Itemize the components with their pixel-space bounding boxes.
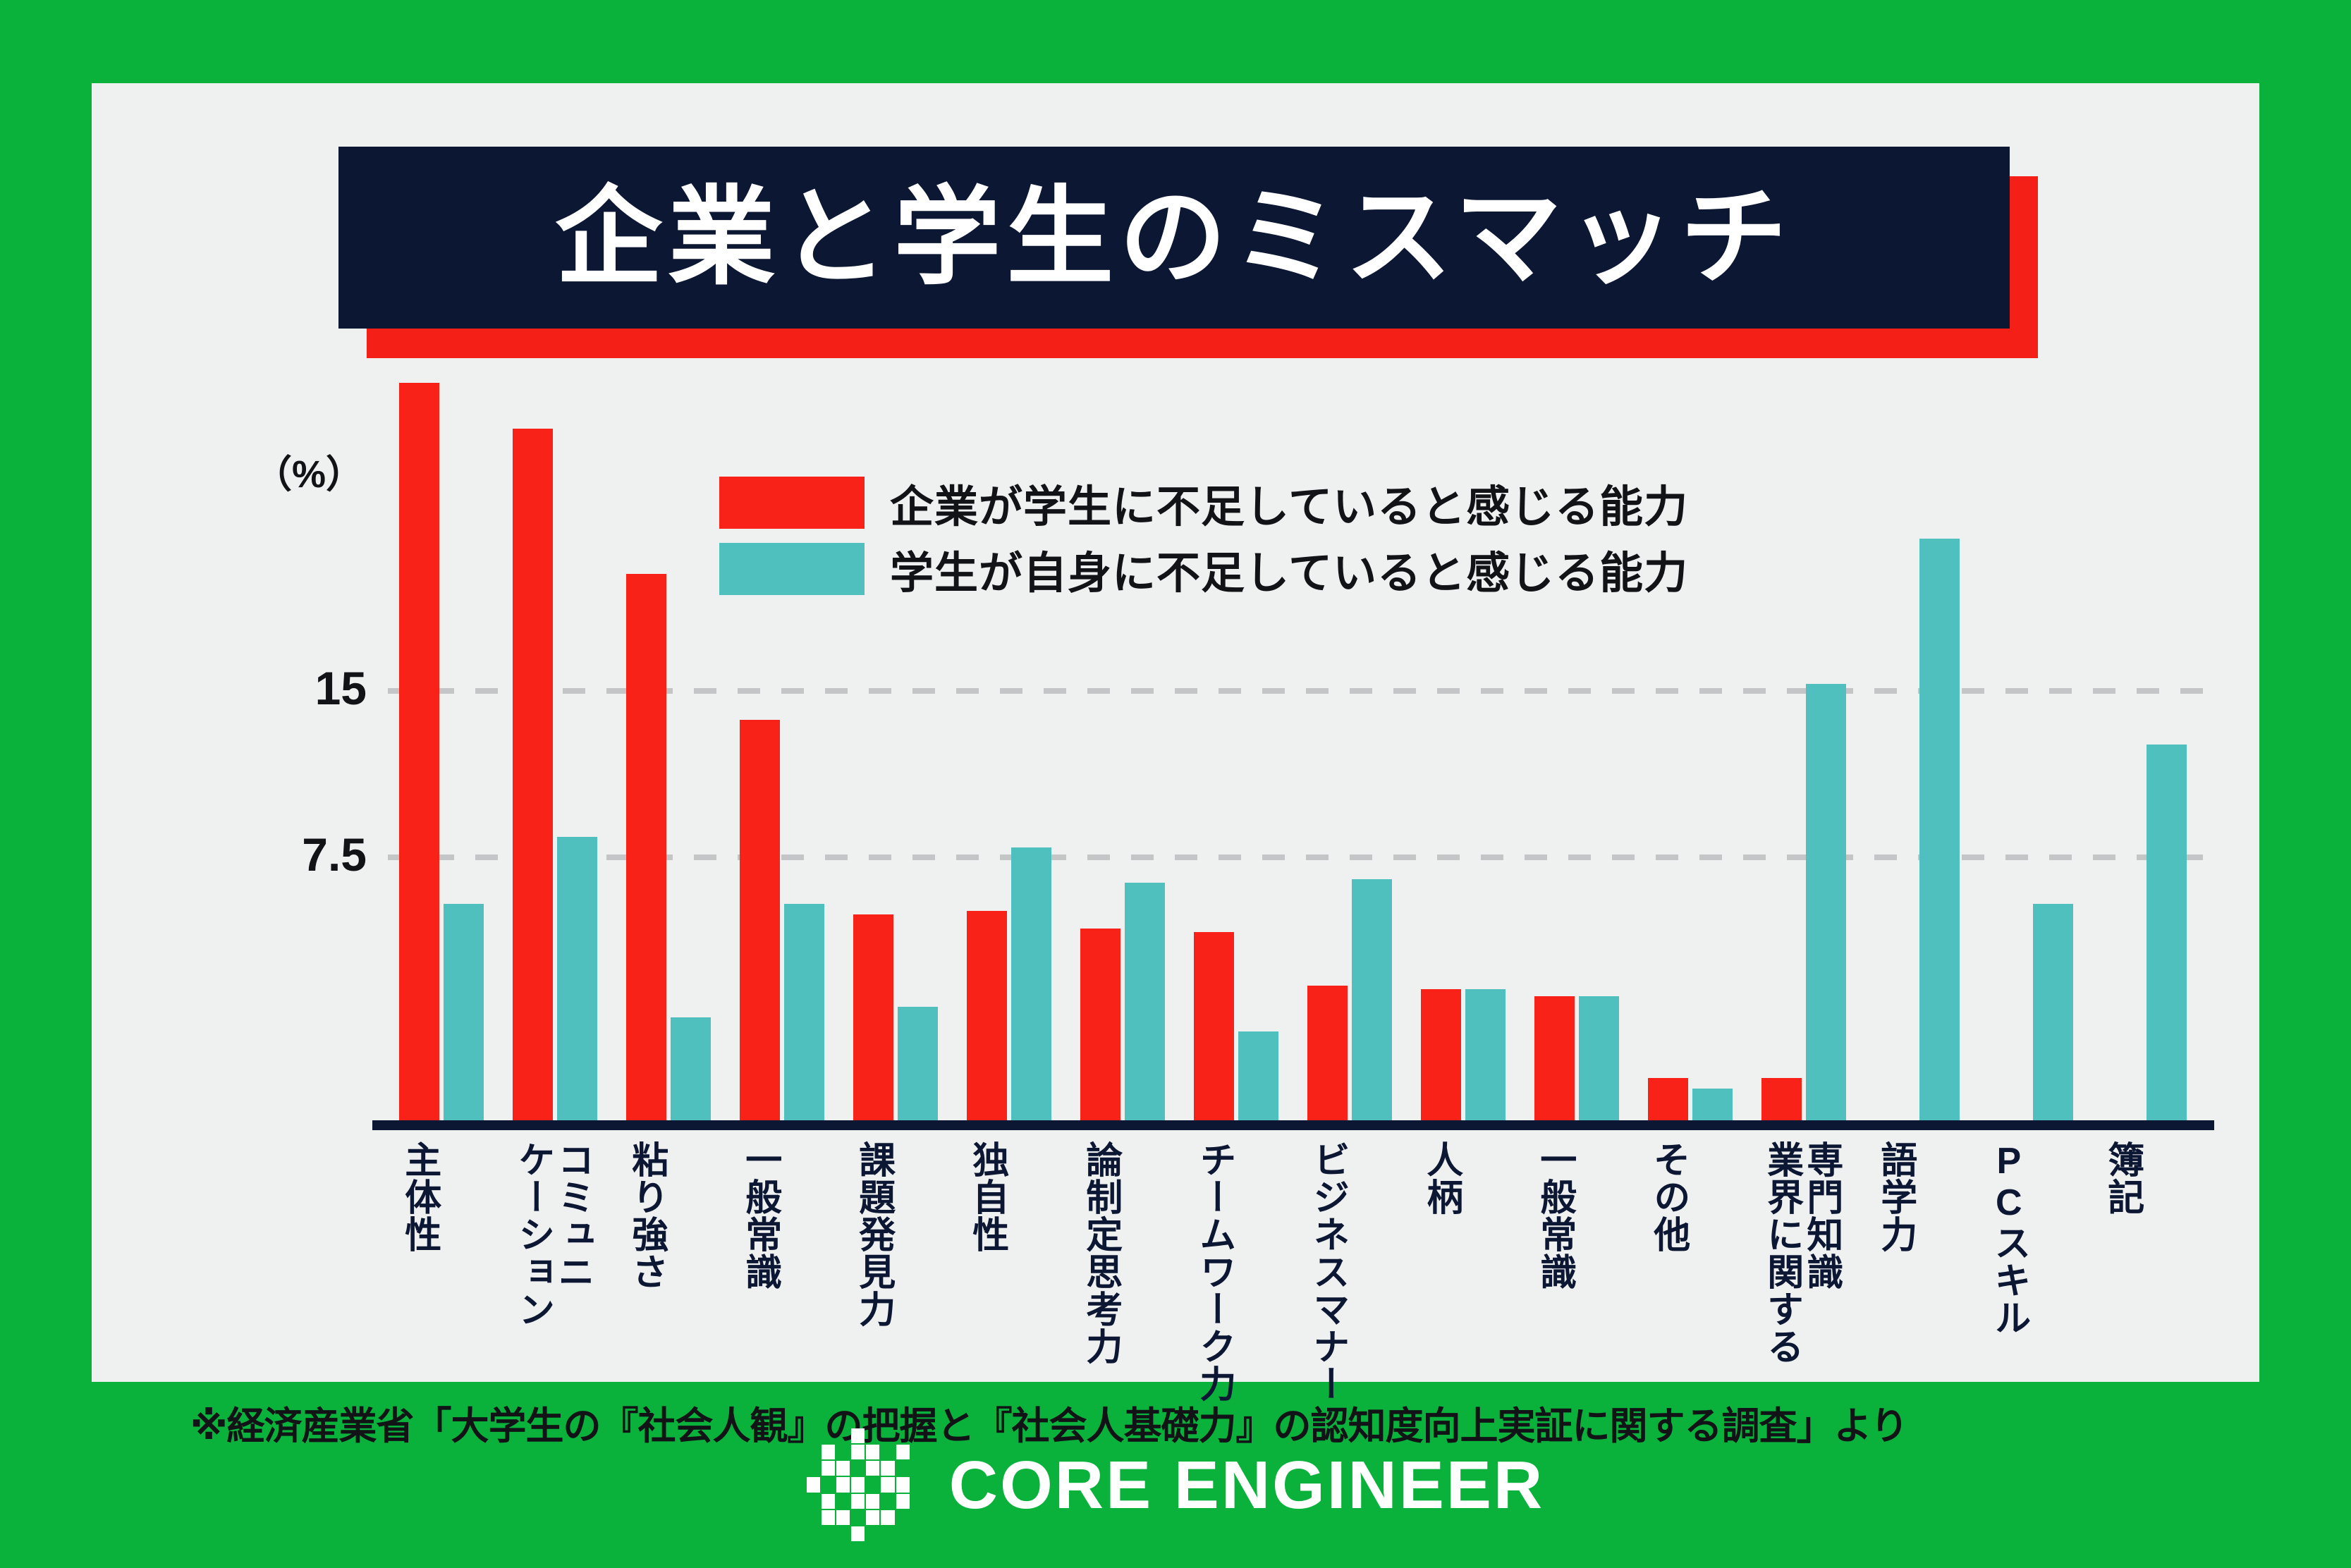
x-axis-label: 語学力: [1876, 1141, 1915, 1253]
x-axis-label: 独自性: [968, 1141, 1006, 1253]
bar-group: [1183, 365, 1296, 1120]
x-axis-label: 主体性: [401, 1141, 439, 1253]
bar-student: [784, 904, 824, 1120]
bar-company: [1080, 929, 1120, 1120]
bar-student: [2147, 745, 2187, 1120]
x-axis-label-column: ビジネスマナー: [1309, 1141, 1347, 1402]
bar-group: [501, 365, 615, 1120]
bar-company: [1534, 996, 1575, 1120]
bar-group: [615, 365, 728, 1120]
brand-name: CORE ENGINEER: [949, 1447, 1544, 1524]
bar-student: [1125, 883, 1165, 1120]
x-axis-label: 人柄: [1422, 1141, 1460, 1215]
bar-company: [1307, 986, 1348, 1120]
x-axis-label: 簿記: [2103, 1141, 2142, 1215]
bar-student: [1238, 1031, 1278, 1120]
bar-student: [1919, 539, 1960, 1120]
x-axis-label-column: 粘り強さ: [628, 1141, 666, 1290]
pixel-diamond-icon: [807, 1428, 911, 1543]
bar-student: [557, 837, 597, 1120]
bar-student: [1011, 847, 1051, 1120]
x-axis-label-column: 業界に関する: [1763, 1141, 1801, 1365]
x-axis-label-column: 簿記: [2103, 1141, 2142, 1215]
y-axis-unit-label: （%）: [254, 443, 364, 498]
x-axis-label-column: ケーション: [514, 1141, 552, 1328]
bar-group: [388, 365, 501, 1120]
bar-group: [728, 365, 842, 1120]
x-axis-label-column: 人柄: [1422, 1141, 1460, 1215]
x-axis-label-column: 独自性: [968, 1141, 1006, 1253]
x-axis-line: [372, 1120, 2214, 1130]
x-axis-label: コミュニケーション: [514, 1141, 592, 1328]
y-tick-label: 15: [261, 661, 367, 715]
x-axis-label-column: 課題発見力: [855, 1141, 893, 1328]
brand-footer: CORE ENGINEER: [0, 1403, 2351, 1568]
x-axis-label: 課題発見力: [855, 1141, 893, 1328]
bar-company: [1421, 989, 1461, 1120]
x-axis-label: チームワーク力: [1195, 1141, 1233, 1402]
infographic-root: 企業と学生のミスマッチ 企業が学生に不足していると感じる能力 学生が自身に不足し…: [0, 0, 2351, 1568]
bar-group: [2091, 365, 2204, 1120]
bar-group: [1296, 365, 1410, 1120]
bar-company: [626, 574, 666, 1120]
bar-group: [1637, 365, 1750, 1120]
bar-student: [1352, 879, 1392, 1120]
x-axis-label-column: 専門知識: [1802, 1141, 1840, 1365]
bar-company: [853, 914, 893, 1120]
x-axis-label: 粘り強さ: [628, 1141, 666, 1290]
bar-group: [1977, 365, 2091, 1120]
bar-group: [1410, 365, 1523, 1120]
x-axis-label-column: コミュニ: [554, 1141, 592, 1328]
x-axis-label: ビジネスマナー: [1309, 1141, 1347, 1402]
x-axis-label-column: その他: [1649, 1141, 1687, 1253]
x-axis-labels: 主体性コミュニケーション粘り強さ一般常識課題発見力独自性論制定思考力チームワーク…: [388, 1141, 2351, 1380]
bar-student: [1806, 684, 1846, 1120]
bar-student: [444, 904, 484, 1120]
x-axis-label-column: 主体性: [401, 1141, 439, 1253]
bar-company: [1761, 1078, 1802, 1120]
bar-group: [1864, 365, 1977, 1120]
page-title: 企業と学生のミスマッチ: [555, 184, 1793, 291]
title-banner: 企業と学生のミスマッチ: [338, 147, 2108, 358]
x-axis-label-column: 一般常識: [1536, 1141, 1574, 1290]
bar-group: [1750, 365, 1864, 1120]
x-axis-label: 論制定思考力: [1082, 1141, 1120, 1365]
bar-company: [399, 383, 439, 1120]
x-axis-label: 専門知識業界に関する: [1763, 1141, 1840, 1365]
bar-student: [2033, 904, 2073, 1120]
bar-student: [1465, 989, 1506, 1120]
x-axis-label-column: 語学力: [1876, 1141, 1915, 1253]
chart-plot-area: [388, 365, 2204, 1120]
bar-group: [955, 365, 1069, 1120]
x-axis-label: 一般常識: [741, 1141, 779, 1290]
title-box: 企業と学生のミスマッチ: [338, 147, 2010, 329]
bar-student: [1579, 996, 1619, 1120]
bar-student: [898, 1007, 938, 1120]
bar-company: [1648, 1078, 1688, 1120]
x-axis-label-column: チームワーク力: [1195, 1141, 1233, 1402]
x-axis-label-column: 一般常識: [741, 1141, 779, 1290]
x-axis-label-column: PCスキル: [1990, 1141, 2028, 1336]
content-card: 企業と学生のミスマッチ 企業が学生に不足していると感じる能力 学生が自身に不足し…: [92, 83, 2259, 1382]
bar-group: [1069, 365, 1183, 1120]
bar-company: [967, 911, 1007, 1120]
bar-company: [1194, 932, 1234, 1120]
x-axis-label: PCスキル: [1990, 1141, 2028, 1336]
bar-student: [1692, 1089, 1733, 1120]
bar-student: [671, 1017, 711, 1120]
bar-group: [1523, 365, 1637, 1120]
bar-company: [513, 429, 553, 1120]
bar-group: [842, 365, 955, 1120]
y-tick-label: 7.5: [261, 828, 367, 881]
bar-chart: （%） 7.515: [183, 365, 2214, 1130]
x-axis-label: その他: [1649, 1141, 1687, 1253]
x-axis-label: 一般常識: [1536, 1141, 1574, 1290]
bar-company: [740, 720, 780, 1120]
x-axis-label-column: 論制定思考力: [1082, 1141, 1120, 1365]
